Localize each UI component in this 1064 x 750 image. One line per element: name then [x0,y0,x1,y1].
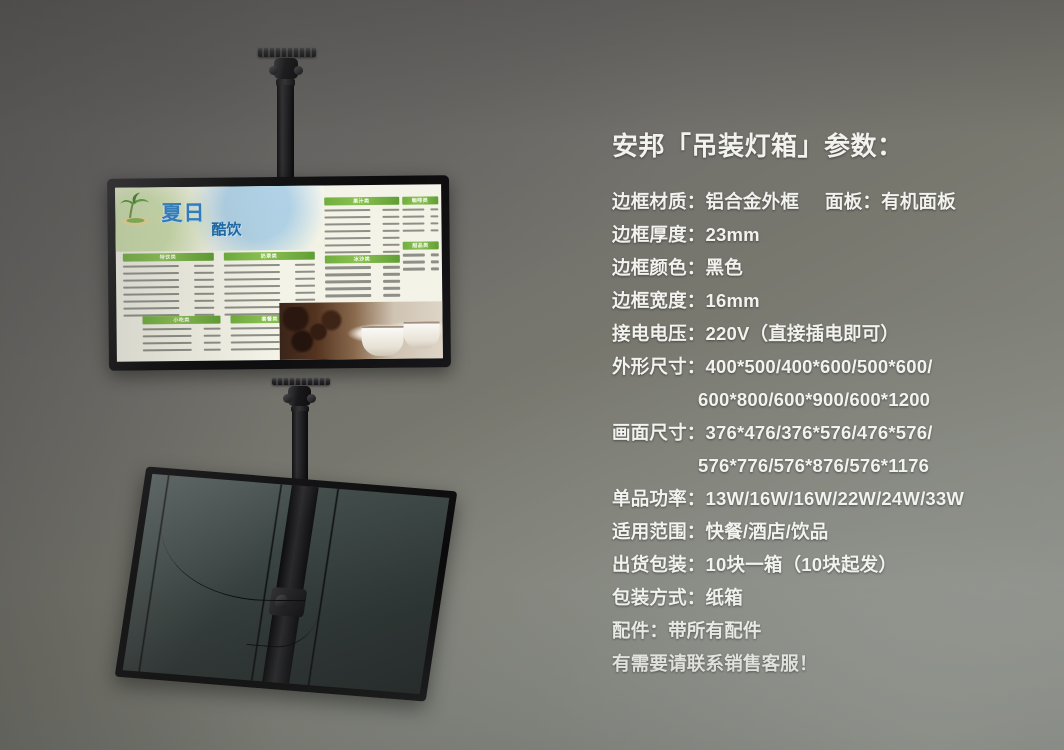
mount-plate-holes [272,378,330,385]
spec-value: 黑色 [706,257,743,278]
menu-row [122,270,213,277]
spec-value: 有需要请联系销售客服！ [612,653,818,674]
spec-value: 400*500/400*600/500*600/ [706,356,933,377]
spec-line-outer-size: 外形尺寸：400*500/400*600/500*600/ [612,350,1042,383]
coffee-cup-icon [361,325,404,355]
spec-value: 16mm [706,290,760,311]
ceiling-mount-upper [252,48,332,180]
mount-ceiling-plate [272,378,330,385]
spec-label: 单品功率： [612,488,706,509]
spec-line-image-size: 画面尺寸：376*476/376*576/476*576/ [612,416,1042,449]
menu-hero-banner: 夏日 酷饮 [115,186,324,253]
spec-value: 23mm [706,224,760,245]
coffee-cup-icon [403,322,439,349]
menu-row [223,262,314,269]
menu-row [402,228,438,234]
spec-line-packing-method: 包装方式：纸箱 [612,581,1042,614]
menu-column-4: 咖啡类 [402,197,438,235]
menu-hero-title: 夏日 [161,197,205,227]
spec-line-contact-sales: 有需要请联系销售客服！ [612,647,1042,680]
spec-label: 边框厚度： [612,224,706,245]
menu-section-header: 果汁类 [324,197,399,206]
menu-section-header: 咖啡类 [402,197,438,205]
spec-title: 安邦「吊装灯箱」参数： [612,126,1042,163]
mount-swivel-joint [288,386,311,406]
spec-line-voltage: 接电电压：220V（直接插电即可） [612,317,1042,350]
spec-label: 边框颜色： [612,257,706,278]
spec-label: 适用范围： [612,521,706,542]
spec-line-application: 适用范围：快餐/酒店/饮品 [612,515,1042,548]
menu-row [123,305,214,312]
mount-plate-holes [258,48,316,57]
menu-section-header: 奶茶类 [223,252,314,261]
menu-row [143,332,221,339]
menu-row [143,339,221,346]
spec-label: 配件： [612,620,668,641]
menu-hero-subtitle: 酷饮 [211,219,241,240]
menu-row [324,235,399,242]
spec-line-frame-material: 边框材质：铝合金外框面板：有机面板 [612,185,1042,218]
spec-line-frame-color: 边框颜色：黑色 [612,251,1042,284]
spec-label-panel: 面板： [825,191,881,212]
menu-row [402,214,438,220]
menu-column-6: 甜品类 [403,242,439,273]
spec-value: 13W/16W/16W/22W/24W/33W [706,488,965,509]
spec-label: 出货包装： [612,554,706,575]
menu-column-5: 冰沙类 [324,254,399,300]
back-panel-seam [137,475,170,671]
spec-value: 600*800/600*900/600*1200 [698,389,930,410]
spec-value: 带所有配件 [668,620,762,641]
menu-section-header: 甜品类 [403,242,439,250]
spec-value: 376*476/376*576/476*576/ [706,422,933,443]
spec-value: 220V（直接插电即可） [706,323,900,344]
menu-row [324,221,399,228]
menu-row [143,346,221,353]
spec-label: 边框宽度： [612,290,706,311]
mount-ceiling-plate [258,48,316,57]
menu-section-header: 冰沙类 [324,254,399,263]
menu-row [224,276,315,283]
menu-row [122,263,213,270]
menu-row [403,266,439,272]
menu-section-header: 特饮类 [122,253,213,262]
back-panel-seam [250,484,283,680]
menu-row [324,242,399,249]
spec-line-outer-size-cont: 600*800/600*900/600*1200 [612,383,1042,416]
spec-line-frame-thickness: 边框厚度：23mm [612,218,1042,251]
menu-row [224,283,315,290]
lightbox-back-surface [123,474,450,694]
mount-pole [277,85,294,180]
menu-row [325,285,400,292]
lightbox-front-panel: 夏日 酷饮 特饮类 奶茶类 [107,175,451,371]
menu-row [123,277,214,284]
menu-row [403,252,439,258]
spec-label: 包装方式： [612,587,706,608]
product-photo-scene: 夏日 酷饮 特饮类 奶茶类 [0,0,1064,750]
spec-label: 边框材质： [612,191,706,212]
power-cable [155,496,313,601]
menu-row [224,269,315,276]
spec-label: 画面尺寸： [612,422,706,443]
spec-panel: 安邦「吊装灯箱」参数： 边框材质：铝合金外框面板：有机面板 边框厚度：23mm … [612,126,1042,680]
menu-row [325,264,400,271]
spec-label: 接电电压： [612,323,706,344]
menu-section-header: 小吃类 [143,315,221,324]
menu-row [324,214,399,221]
spec-label: 外形尺寸： [612,356,706,377]
coffee-photo [279,301,443,360]
menu-row [324,207,399,214]
menu-row [325,292,400,299]
lightbox-back-panel [115,466,458,701]
spec-line-shipping-pack: 出货包装：10块一箱（10块起发） [612,548,1042,581]
palm-tree-icon [119,191,163,225]
menu-row [123,284,214,291]
spec-value: 10块一箱（10块起发） [706,554,898,575]
menu-column-3: 果汁类 [324,197,400,257]
spec-line-image-size-cont: 576*776/576*876/576*1176 [612,449,1042,482]
spec-value: 576*776/576*876/576*1176 [698,455,929,476]
back-mounting-rail [258,474,323,694]
spec-line-accessories: 配件：带所有配件 [612,614,1042,647]
menu-artwork: 夏日 酷饮 特饮类 奶茶类 [115,184,443,361]
menu-row [143,325,221,332]
spec-value: 快餐/酒店/饮品 [706,521,829,542]
menu-row [402,221,438,227]
spec-value-panel: 有机面板 [881,191,956,212]
menu-column-1: 特饮类 [122,253,214,320]
spec-value: 纸箱 [706,587,743,608]
spec-line-frame-width: 边框宽度：16mm [612,284,1042,317]
spec-value: 铝合金外框 [706,191,800,212]
menu-row [325,271,400,278]
menu-row [123,291,214,298]
power-cable [247,586,321,651]
menu-row [402,207,438,213]
mount-swivel-joint [274,58,298,79]
menu-column-7: 小吃类 [143,315,222,354]
lightbox-back-frame [115,466,458,701]
menu-row [123,298,214,305]
back-mount-hinge [268,587,308,617]
menu-row [324,228,399,235]
menu-row [403,259,439,265]
back-panel-seam [307,489,340,685]
spec-line-power: 单品功率：13W/16W/16W/22W/24W/33W [612,482,1042,515]
menu-row [224,290,315,297]
menu-row [325,278,400,285]
